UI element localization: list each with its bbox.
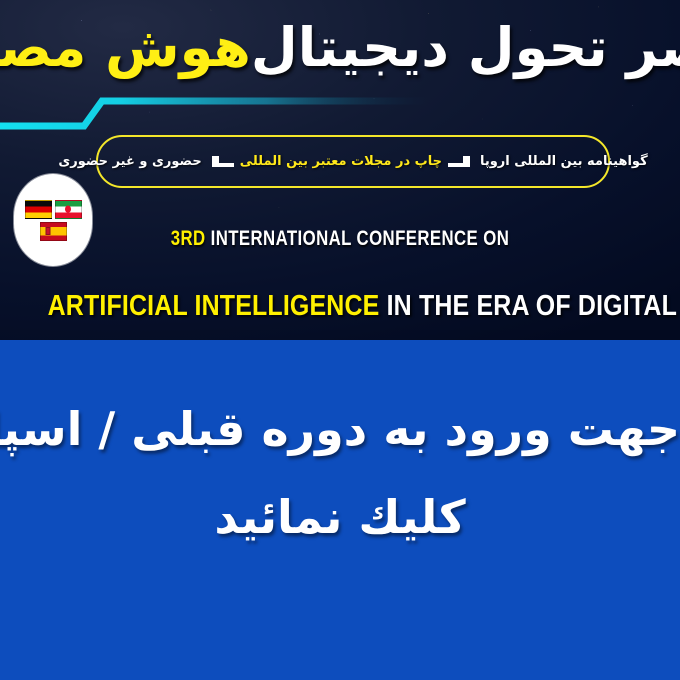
feature-item-attendance-mode: حضوری و غیر حضوری xyxy=(58,155,201,168)
flags-row-top xyxy=(25,200,82,219)
conference-ordinal-line: 3RD INTERNATIONAL CONFERENCE ON xyxy=(68,228,612,249)
cta-text-line-2[interactable]: کلیك نمائید xyxy=(0,494,680,540)
conference-topic-highlight: ARTIFICIAL INTELLIGENCE xyxy=(48,290,380,322)
conference-banner: در عصر تحول دیجیتال هوش مصنوعی گواهینامه… xyxy=(0,0,680,680)
conference-ordinal-rest: INTERNATIONAL CONFERENCE ON xyxy=(211,227,510,250)
conference-topic-rest: IN THE ERA OF DIGITAL TRANSFORMATION xyxy=(387,290,680,322)
conference-ordinal: 3RD xyxy=(171,227,206,250)
bullet-separator-icon-2 xyxy=(208,155,234,168)
cta-panel[interactable]: جهت ورود به دوره قبلی / اسپانیا کلیك نما… xyxy=(0,340,680,680)
headline-yellow-part: هوش مصنوعی xyxy=(0,21,251,75)
conference-topic-line: ARTIFICIAL INTELLIGENCE IN THE ERA OF DI… xyxy=(48,292,633,321)
flags-row-bottom xyxy=(40,222,67,241)
features-row: گواهینامه بین المللی اروپا چاپ در مجلات … xyxy=(98,137,608,186)
page-title: در عصر تحول دیجیتال هوش مصنوعی xyxy=(0,2,680,94)
flags-badge xyxy=(14,174,92,266)
features-pill-box: گواهینامه بین المللی اروپا چاپ در مجلات … xyxy=(96,135,610,188)
cta-text-line-1[interactable]: جهت ورود به دوره قبلی / اسپانیا xyxy=(0,406,680,452)
feature-item-journal-publication: چاپ در مجلات معتبر بین المللی xyxy=(240,155,442,168)
flag-iran-icon xyxy=(55,200,82,219)
feature-item-certificate: گواهینامه بین المللی اروپا xyxy=(480,155,648,168)
bullet-separator-icon xyxy=(448,155,474,168)
flag-germany-icon xyxy=(25,200,52,219)
headline-white-part: در عصر تحول دیجیتال xyxy=(251,21,680,75)
flag-spain-icon xyxy=(40,222,67,241)
